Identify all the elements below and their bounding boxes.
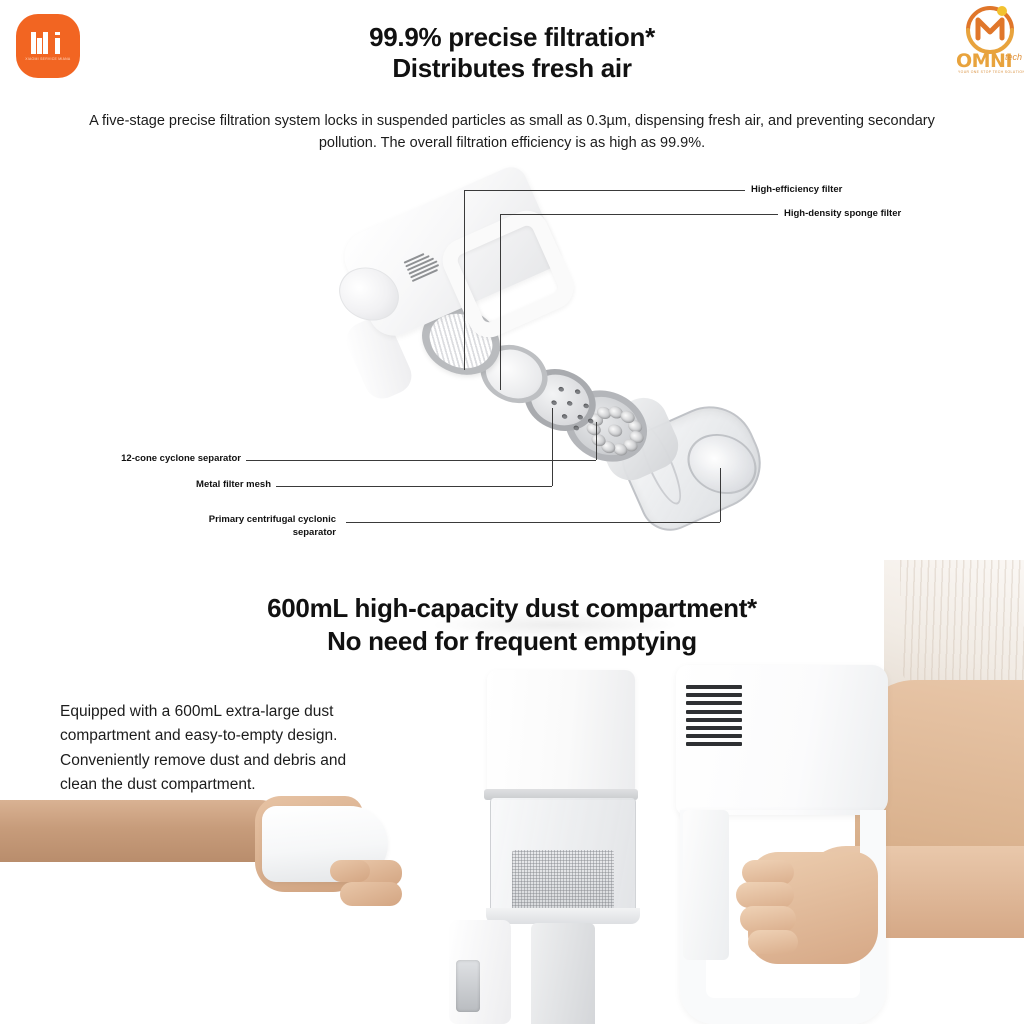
- left-finger-3: [330, 860, 370, 882]
- callout-line-sponge-horizontal: [500, 214, 778, 215]
- vacuum-handle-grip: [683, 810, 729, 960]
- callout-line-mesh-horizontal: [276, 486, 552, 487]
- callout-label-primary-line1: Primary centrifugal cyclonic: [150, 514, 336, 527]
- mesh-perforation: [577, 414, 584, 420]
- section1-title-line1: 99.9% precise filtration*: [0, 22, 1024, 53]
- mesh-perforation: [551, 400, 558, 406]
- right-finger-2: [736, 882, 794, 908]
- callout-line-sponge-vertical: [500, 214, 501, 390]
- dust-compartment-photo: [0, 560, 1024, 1024]
- callout-label-primary-line2: separator: [150, 527, 336, 540]
- left-finger-2: [340, 882, 402, 906]
- callout-label-high-density-sponge-filter: High-density sponge filter: [784, 208, 901, 221]
- model-left-arm: [0, 800, 290, 862]
- right-finger-4: [748, 930, 798, 954]
- callout-line-primary-horizontal: [346, 522, 720, 523]
- dust-bin-mesh-filter: [512, 850, 614, 912]
- vacuum-upper-housing: [487, 670, 635, 792]
- callout-label-high-efficiency-filter: High-efficiency filter: [751, 184, 842, 197]
- callout-line-cyclone-horizontal: [246, 460, 596, 461]
- dust-bin-release-latch: [456, 960, 480, 1012]
- callout-line-hepa-horizontal: [464, 190, 745, 191]
- filtration-exploded-diagram: High-efficiency filter High-density spon…: [0, 170, 1024, 570]
- callout-line-hepa-vertical: [464, 190, 465, 370]
- section1-body-text: A five-stage precise filtration system l…: [84, 110, 940, 155]
- mesh-perforation: [574, 389, 581, 395]
- callout-label-12-cone-cyclone-separator: 12-cone cyclone separator: [96, 453, 241, 466]
- product-marketing-page: XIAOMI SERVICE MIANA OMNI tech YOUR ONE …: [0, 0, 1024, 1024]
- mesh-perforation: [566, 401, 573, 407]
- title-soft-shadow: [430, 612, 680, 638]
- mesh-perforation: [561, 414, 568, 420]
- section1-title: 99.9% precise filtration* Distributes fr…: [0, 22, 1024, 83]
- callout-label-metal-filter-mesh: Metal filter mesh: [136, 479, 271, 492]
- callout-line-mesh-vertical: [552, 408, 553, 486]
- vacuum-stem: [531, 923, 595, 1024]
- model-sleeve-texture: [900, 560, 1024, 700]
- callout-label-primary-centrifugal-cyclonic-separator: Primary centrifugal cyclonic separator: [150, 514, 336, 540]
- section1-title-line2: Distributes fresh air: [0, 53, 1024, 84]
- mesh-perforation: [558, 386, 565, 392]
- callout-line-cyclone-vertical: [596, 422, 597, 460]
- motor-exhaust-vents-icon: [686, 685, 742, 743]
- cyclone-cone-center: [606, 423, 624, 438]
- dust-bin-base: [486, 908, 640, 924]
- right-finger-3: [740, 906, 796, 932]
- callout-line-primary-vertical: [720, 468, 721, 522]
- mesh-perforation: [583, 403, 590, 409]
